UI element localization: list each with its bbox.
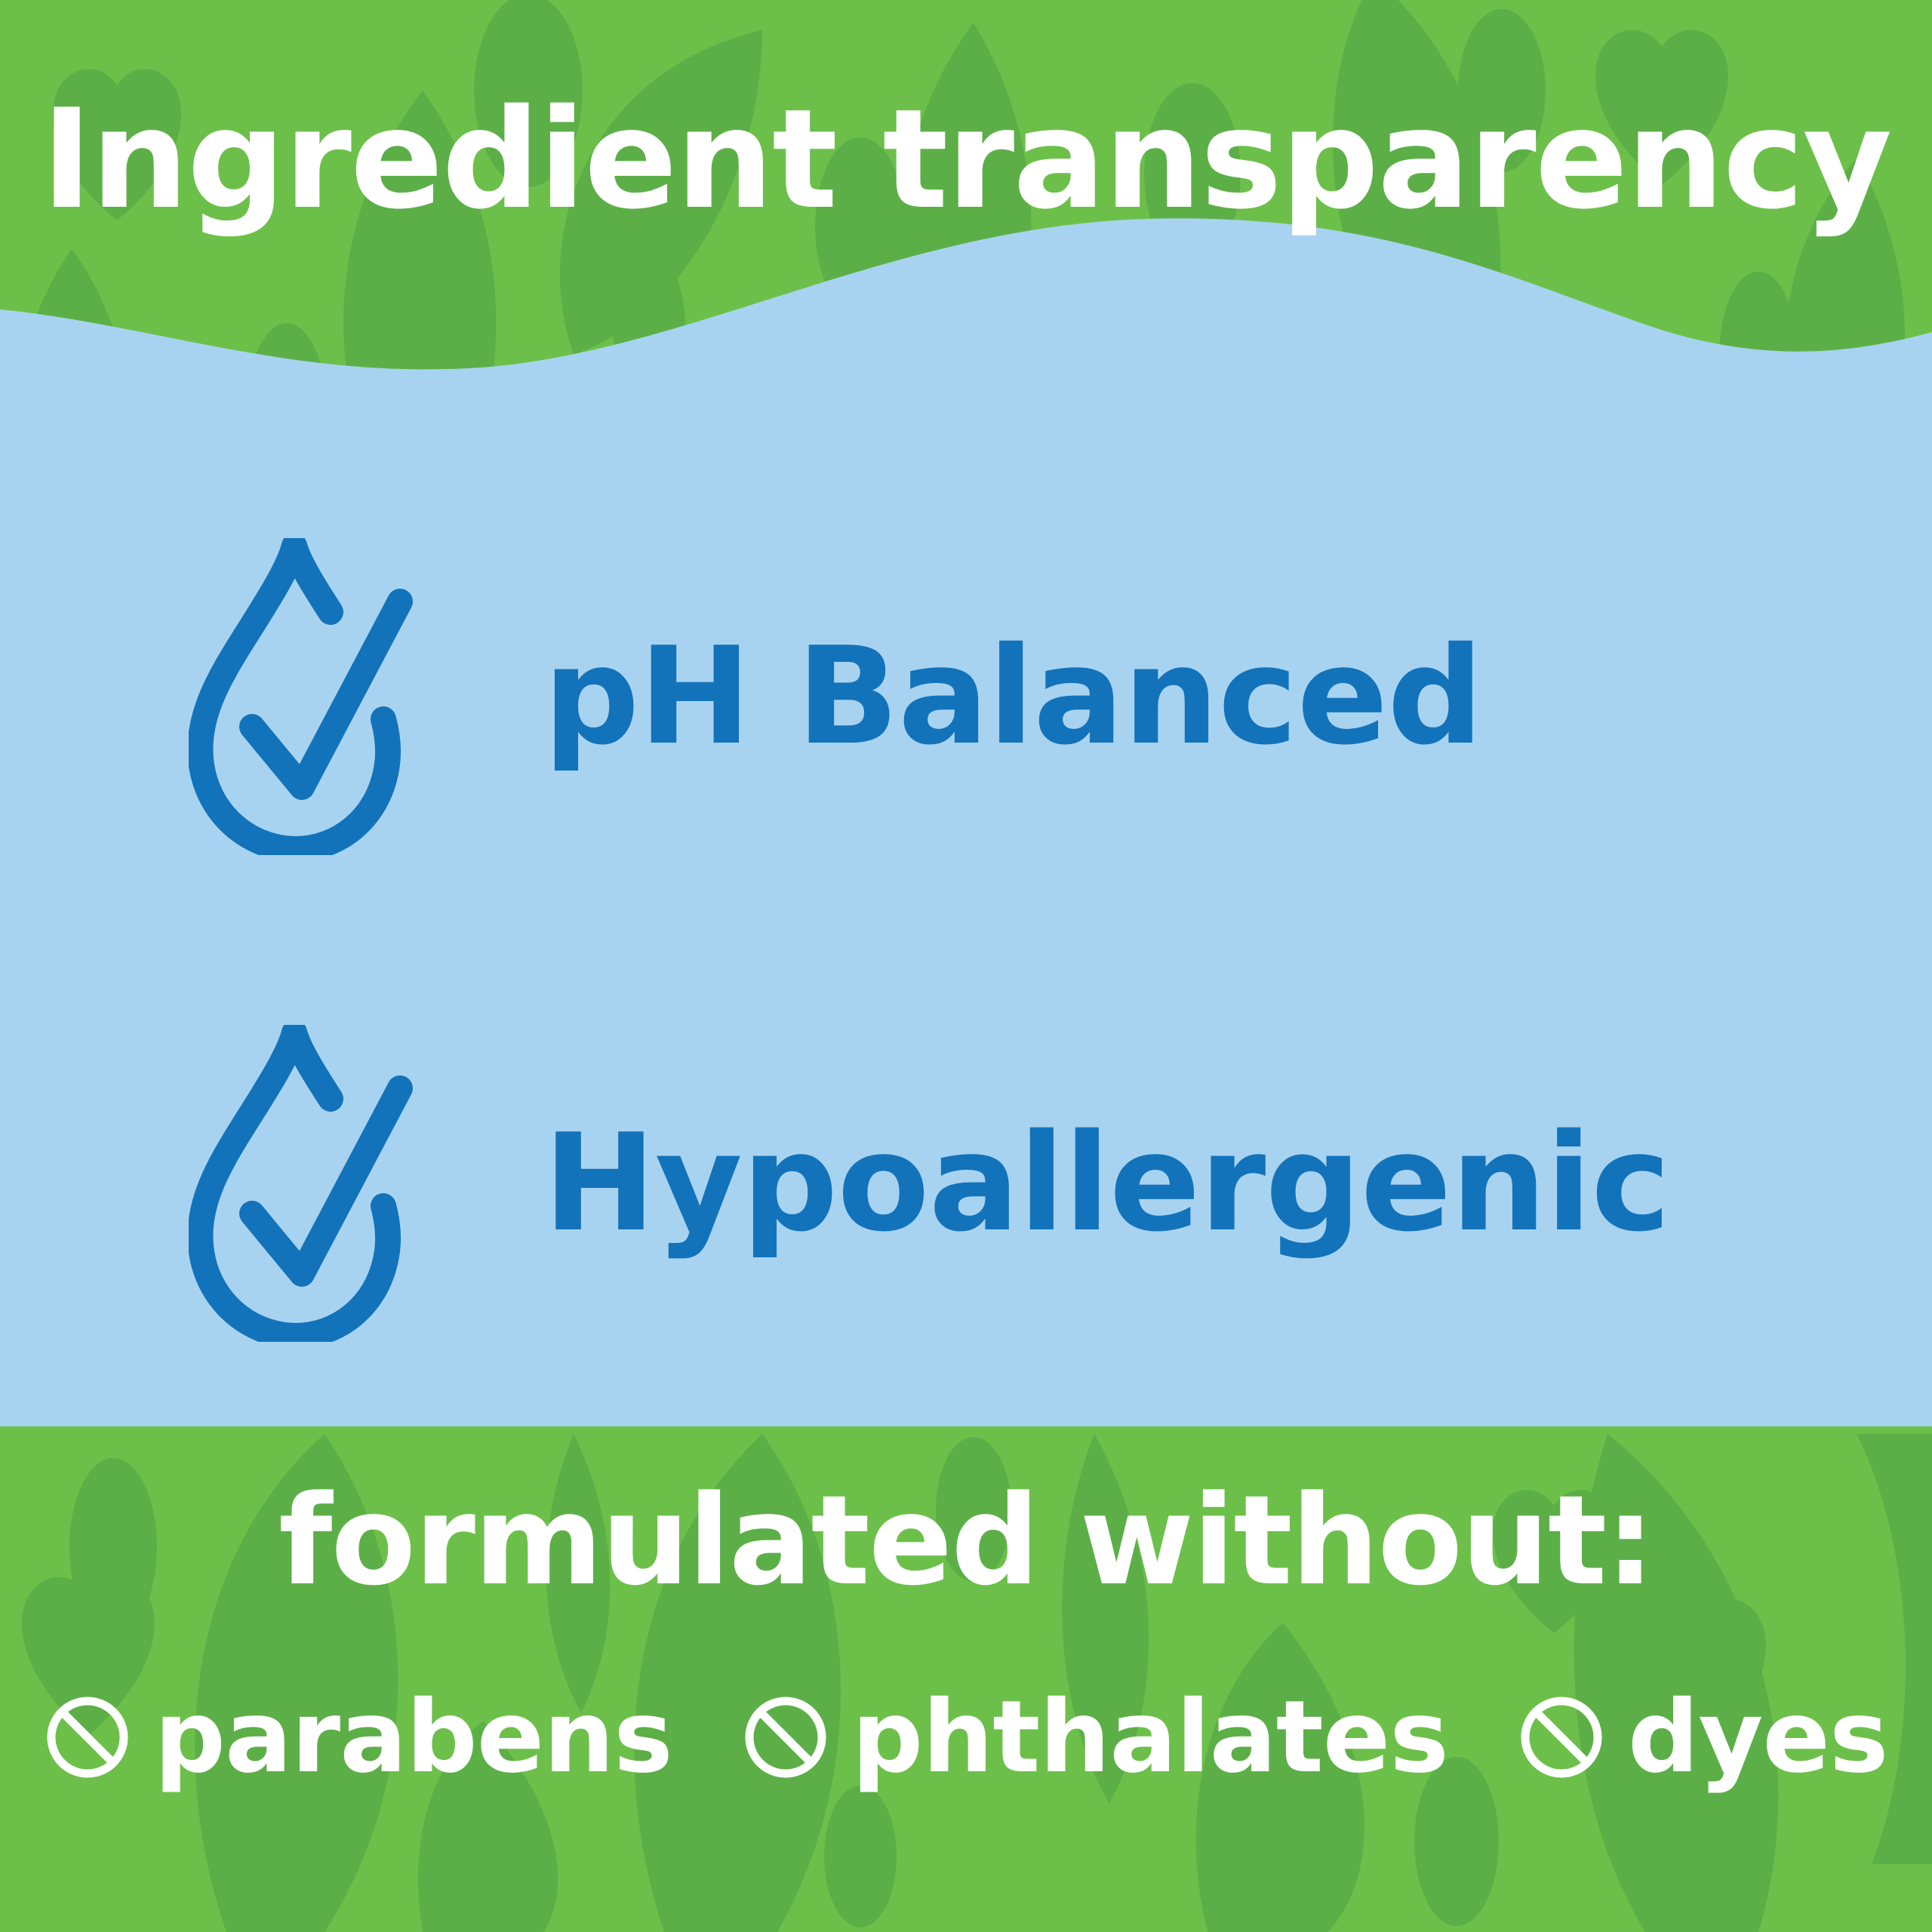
feature-row: Hypoallergenic: [0, 1021, 1932, 1346]
droplet-check-icon: [189, 538, 415, 855]
feature-row: pH Balanced: [0, 534, 1932, 859]
without-item: phthalates: [742, 1687, 1448, 1787]
droplet-check-icon: [189, 1025, 415, 1342]
promo-card: Ingredient transparency pH Balanced Hypo…: [0, 0, 1932, 1932]
formulated-without-title: formulated without:: [0, 1479, 1932, 1603]
page-title: Ingredient transparency: [0, 91, 1932, 228]
without-label: phthalates: [852, 1687, 1448, 1787]
prohibition-icon: [742, 1694, 829, 1781]
formulated-without-items: parabens phthalates dyes: [0, 1687, 1932, 1787]
feature-list: pH Balanced Hypoallergenic: [0, 453, 1932, 1426]
feature-label: Hypoallergenic: [543, 1116, 1670, 1251]
without-label: parabens: [154, 1687, 672, 1787]
without-item: dyes: [1518, 1687, 1888, 1787]
prohibition-icon: [1518, 1694, 1605, 1781]
without-label: dyes: [1628, 1687, 1888, 1787]
formulated-without-block: formulated without: parabens phthalates: [0, 1479, 1932, 1787]
feature-label: pH Balanced: [543, 629, 1483, 764]
prohibition-icon: [44, 1694, 131, 1781]
without-item: parabens: [44, 1687, 672, 1787]
